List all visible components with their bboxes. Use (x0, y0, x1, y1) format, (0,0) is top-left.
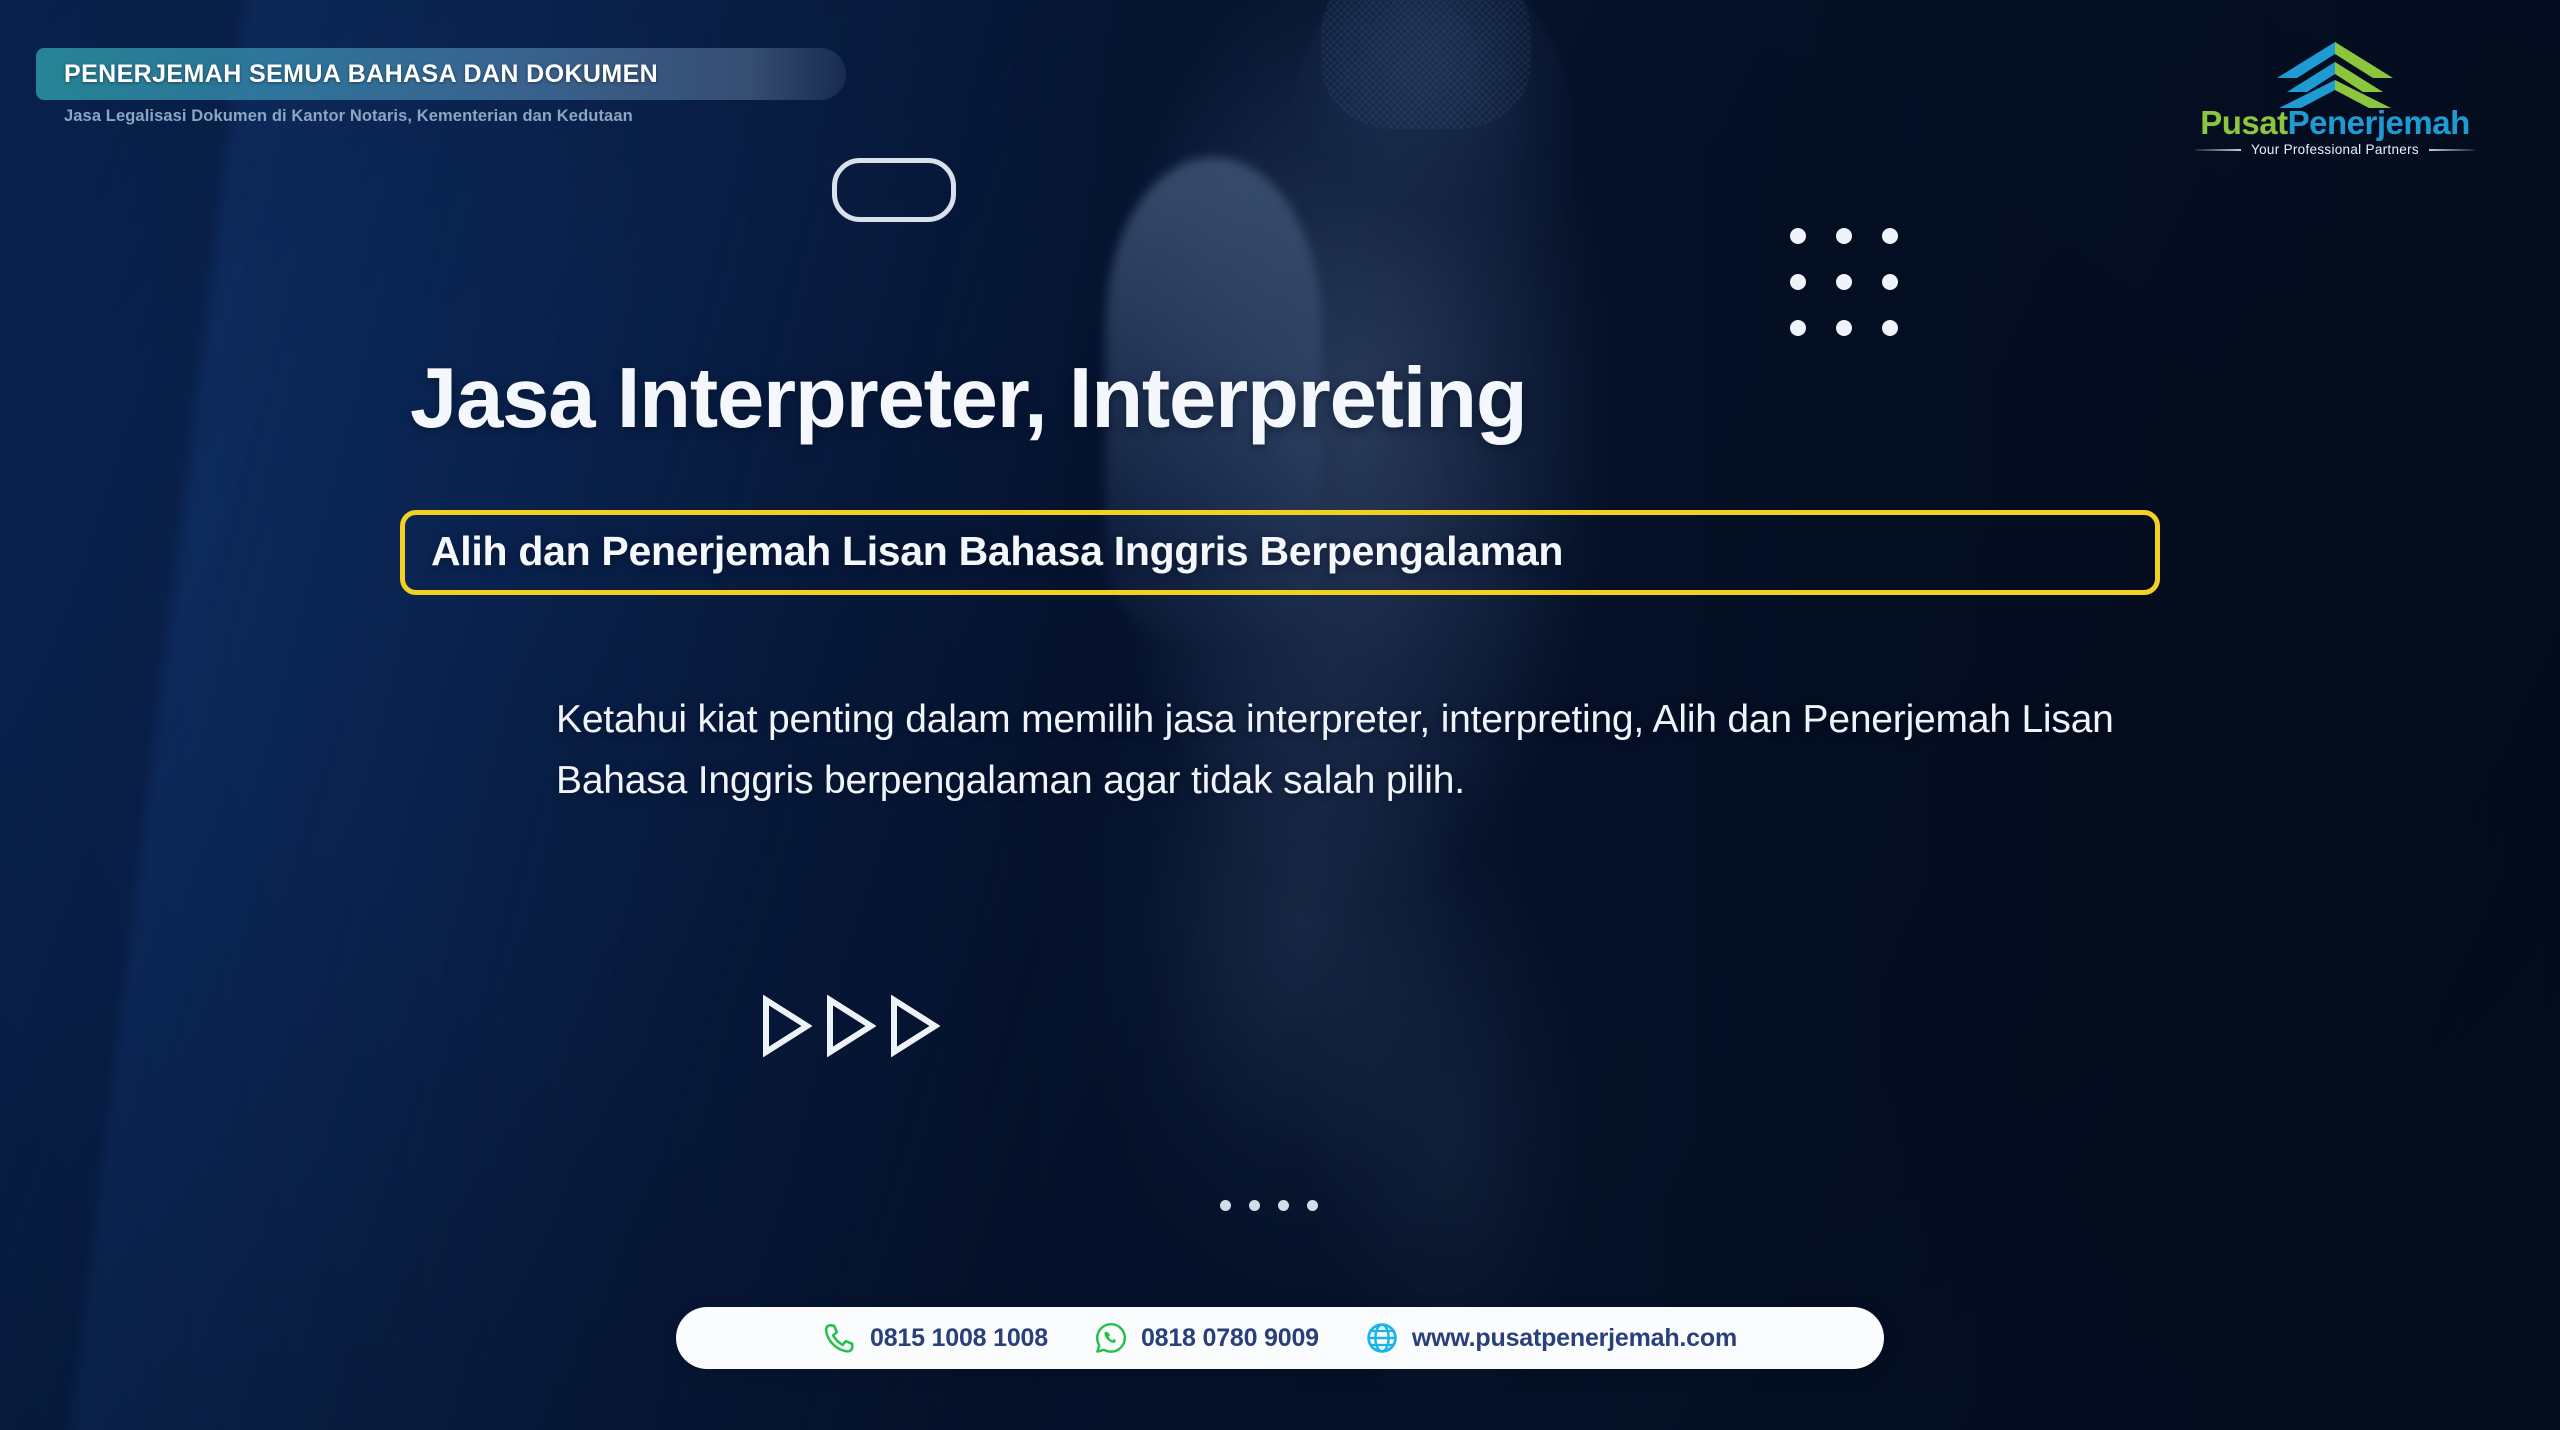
play-arrow-icon (824, 995, 876, 1057)
grid-dot (1882, 274, 1898, 290)
contact-bar: 0815 1008 1008 0818 0780 9009 www.pusatp… (676, 1307, 1884, 1369)
top-banner: PENERJEMAH SEMUA BAHASA DAN DOKUMEN Jasa… (36, 48, 846, 126)
grid-dot (1836, 228, 1852, 244)
poster-canvas: PENERJEMAH SEMUA BAHASA DAN DOKUMEN Jasa… (0, 0, 2560, 1430)
brand-logo: PusatPenerjemah Your Professional Partne… (2150, 38, 2520, 157)
subtitle-box: Alih dan Penerjemah Lisan Bahasa Inggris… (400, 510, 2160, 595)
dot-row-icon (1220, 1200, 1318, 1211)
tagline-rule-right (2429, 149, 2475, 151)
grid-dot (1790, 228, 1806, 244)
rounded-rectangle-outline-icon (832, 158, 956, 222)
contact-whatsapp-label: 0818 0780 9009 (1141, 1324, 1319, 1353)
row-dot (1307, 1200, 1318, 1211)
logo-tagline: Your Professional Partners (2251, 142, 2419, 157)
row-dot (1278, 1200, 1289, 1211)
tagline-rule-left (2195, 149, 2241, 151)
body-paragraph: Ketahui kiat penting dalam memilih jasa … (556, 690, 2116, 812)
play-arrow-icon (888, 995, 940, 1057)
play-arrows-icon (760, 995, 940, 1057)
building-roof-icon (2235, 38, 2435, 110)
grid-dot (1882, 320, 1898, 336)
row-dot (1220, 1200, 1231, 1211)
contact-phone-label: 0815 1008 1008 (870, 1324, 1048, 1353)
row-dot (1249, 1200, 1260, 1211)
logo-word-penerjemah: Penerjemah (2288, 104, 2470, 141)
grid-dot (1836, 320, 1852, 336)
globe-icon (1365, 1321, 1399, 1355)
logo-wordmark: PusatPenerjemah (2150, 106, 2520, 139)
dot-grid-icon (1790, 228, 1898, 336)
grid-dot (1790, 320, 1806, 336)
grid-dot (1790, 274, 1806, 290)
top-banner-subtitle: Jasa Legalisasi Dokumen di Kantor Notari… (36, 107, 846, 126)
play-arrow-icon (760, 995, 812, 1057)
contact-item-website[interactable]: www.pusatpenerjemah.com (1365, 1321, 1737, 1355)
page-title: Jasa Interpreter, Interpreting (410, 355, 2170, 443)
phone-icon (823, 1321, 857, 1355)
contact-item-phone[interactable]: 0815 1008 1008 (823, 1321, 1048, 1355)
whatsapp-icon (1094, 1321, 1128, 1355)
grid-dot (1882, 228, 1898, 244)
subtitle-text: Alih dan Penerjemah Lisan Bahasa Inggris… (431, 529, 2129, 574)
logo-tagline-row: Your Professional Partners (2150, 142, 2520, 157)
grid-dot (1836, 274, 1852, 290)
logo-word-pusat: Pusat (2200, 104, 2287, 141)
contact-website-label: www.pusatpenerjemah.com (1412, 1324, 1737, 1353)
top-banner-title: PENERJEMAH SEMUA BAHASA DAN DOKUMEN (36, 60, 658, 89)
top-banner-pill: PENERJEMAH SEMUA BAHASA DAN DOKUMEN (36, 48, 846, 100)
contact-item-whatsapp[interactable]: 0818 0780 9009 (1094, 1321, 1319, 1355)
